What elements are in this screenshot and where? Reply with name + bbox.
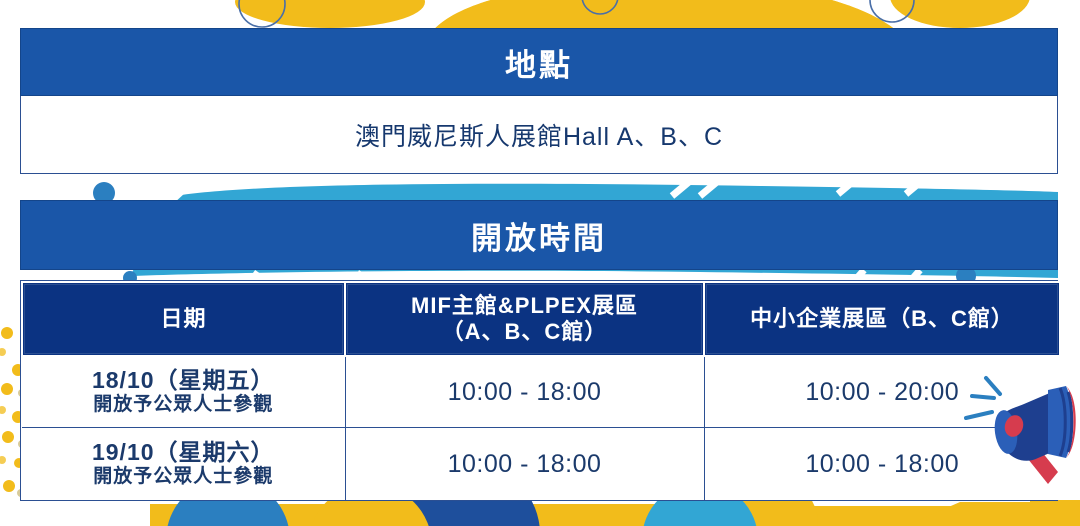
location-heading: 地點 — [20, 28, 1058, 96]
sme-hours-value: 10:00 - 18:00 — [805, 450, 959, 478]
sme-hours-value: 10:00 - 20:00 — [805, 378, 959, 406]
poster-canvas: 地點 澳門威尼斯人展館Hall A、B、C 開放時間 日期 MIF主館&PLPE… — [0, 0, 1080, 526]
cell-sme-hours: 10:00 - 18:00 — [704, 428, 1060, 500]
hours-heading: 開放時間 — [20, 200, 1058, 270]
column-header-mif-line1: MIF主館&PLPEX展區 — [352, 293, 697, 319]
location-card: 地點 澳門威尼斯人展館Hall A、B、C — [20, 28, 1058, 174]
table-header-row: 日期 MIF主館&PLPEX展區 （A、B、C館） 中小企業展區（B、C館） — [22, 282, 1060, 356]
mif-hours-value: 10:00 - 18:00 — [448, 378, 602, 406]
schedule-table: 日期 MIF主館&PLPEX展區 （A、B、C館） 中小企業展區（B、C館） 1… — [20, 280, 1058, 501]
column-header-mif: MIF主館&PLPEX展區 （A、B、C館） — [345, 282, 704, 356]
cell-mif-hours: 10:00 - 18:00 — [345, 356, 704, 428]
date-sub: 開放予公眾人士參觀 — [28, 465, 339, 490]
table-row: 19/10（星期六） 開放予公眾人士參觀 10:00 - 18:00 10:00… — [22, 428, 1060, 500]
cell-date: 18/10（星期五） 開放予公眾人士參觀 — [22, 356, 345, 428]
date-main: 19/10（星期六） — [28, 439, 339, 465]
column-header-date: 日期 — [22, 282, 345, 356]
column-header-sme: 中小企業展區（B、C館） — [704, 282, 1060, 356]
mif-hours-value: 10:00 - 18:00 — [448, 450, 602, 478]
cell-sme-hours: 10:00 - 20:00 — [704, 356, 1060, 428]
date-main: 18/10（星期五） — [28, 367, 339, 393]
date-sub: 開放予公眾人士參觀 — [28, 393, 339, 418]
cell-date: 19/10（星期六） 開放予公眾人士參觀 — [22, 428, 345, 500]
circle-outline-shape — [239, 0, 914, 27]
column-header-mif-line2: （A、B、C館） — [352, 319, 697, 345]
cell-mif-hours: 10:00 - 18:00 — [345, 428, 704, 500]
table-row: 18/10（星期五） 開放予公眾人士參觀 10:00 - 18:00 10:00… — [22, 356, 1060, 428]
location-value: 澳門威尼斯人展館Hall A、B、C — [20, 96, 1058, 174]
